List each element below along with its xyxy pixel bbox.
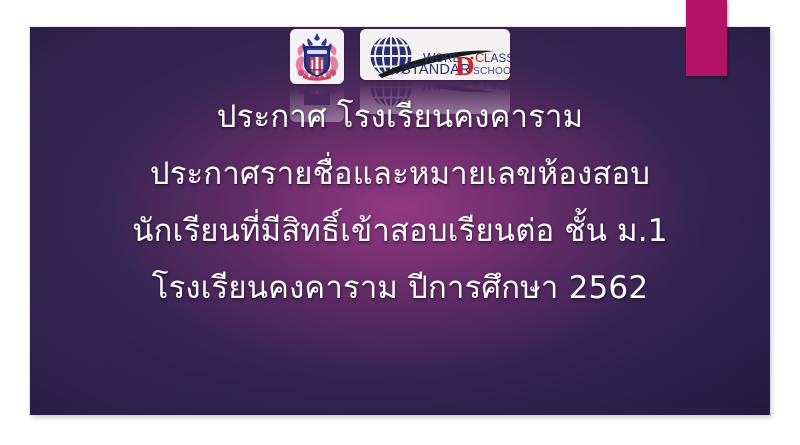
slide-title-block: ประกาศ โรงเรียนคงคาราม ประกาศรายชื่อและห… (30, 89, 770, 317)
svg-text:C: C (475, 50, 484, 65)
title-line-3: นักเรียนที่มีสิทธิ์เข้าสอบเรียนต่อ ชั้น … (30, 203, 770, 260)
world-class-icon: STANDAR D W ORL C LASS SCHOOL (360, 29, 510, 80)
title-line-2: ประกาศรายชื่อและหมายเลขห้องสอบ (30, 146, 770, 203)
presentation-slide: STANDAR D W ORL C LASS SCHOOL (0, 0, 800, 445)
magenta-accent-rectangle (686, 0, 727, 76)
crest-icon (290, 29, 344, 84)
slide-content-panel: STANDAR D W ORL C LASS SCHOOL (30, 27, 770, 415)
title-line-1: ประกาศ โรงเรียนคงคาราม (30, 89, 770, 146)
svg-text:SCHOOL: SCHOOL (473, 66, 510, 77)
svg-text:LASS: LASS (484, 53, 510, 65)
world-class-svg: STANDAR D W ORL C LASS SCHOOL (360, 29, 510, 80)
world-class-standard-school-logo: STANDAR D W ORL C LASS SCHOOL (360, 29, 510, 80)
crest-svg (290, 29, 344, 84)
logo-strip: STANDAR D W ORL C LASS SCHOOL (30, 29, 770, 84)
title-line-4: โรงเรียนคงคาราม ปีการศึกษา 2562 (30, 260, 770, 317)
svg-text:ORL: ORL (435, 53, 460, 65)
school-crest-logo (290, 29, 344, 84)
